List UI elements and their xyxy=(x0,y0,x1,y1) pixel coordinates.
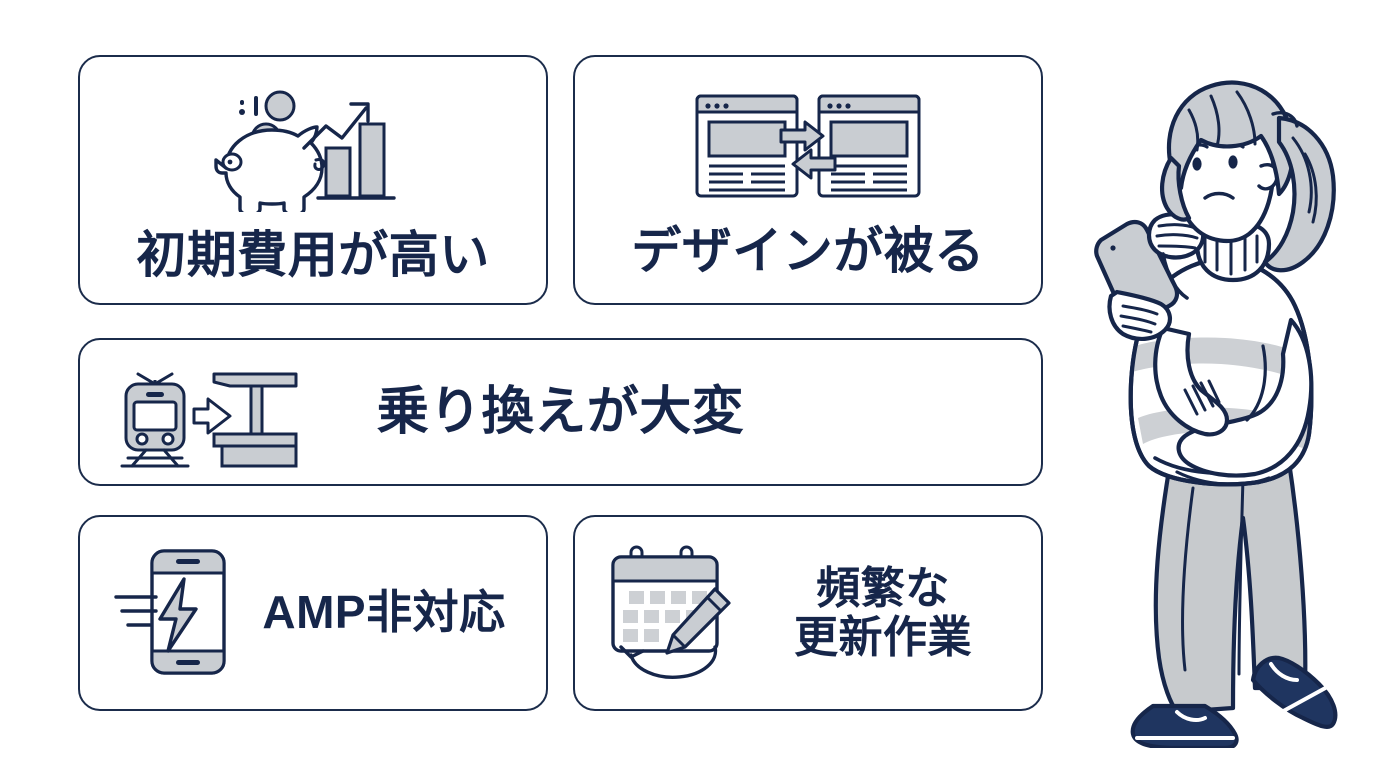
card-label-frequent-updates-line2: 更新作業 xyxy=(739,613,1027,662)
card-label-frequent-updates-line1: 頻繁な xyxy=(739,564,1027,613)
piggy-bank-growth-chart-icon xyxy=(208,82,418,217)
card-frequent-updates[interactable]: 頻繁な 更新作業 xyxy=(573,515,1043,711)
smartphone-lightning-speed-icon xyxy=(108,541,234,686)
woman-thinking-with-smartphone-illustration xyxy=(1093,58,1373,748)
calendar-pencil-refresh-icon xyxy=(603,541,735,686)
slide-canvas: 初期費用が高い xyxy=(0,0,1376,768)
two-browser-windows-swap-icon xyxy=(693,86,923,213)
card-label-design-duplication: デザインが被る xyxy=(631,223,985,279)
card-label-amp-unsupported: AMP非対応 xyxy=(242,587,546,639)
card-amp-unsupported[interactable]: AMP非対応 xyxy=(78,515,548,711)
card-design-duplication[interactable]: デザインが被る xyxy=(573,55,1043,305)
card-initial-cost[interactable]: 初期費用が高い xyxy=(78,55,548,305)
train-to-platform-icon xyxy=(110,362,300,475)
card-label-frequent-updates: 頻繁な 更新作業 xyxy=(739,564,1041,663)
card-migration-difficulty[interactable]: 乗り換えが大変 xyxy=(78,338,1043,486)
card-label-initial-cost: 初期費用が高い xyxy=(136,227,490,283)
